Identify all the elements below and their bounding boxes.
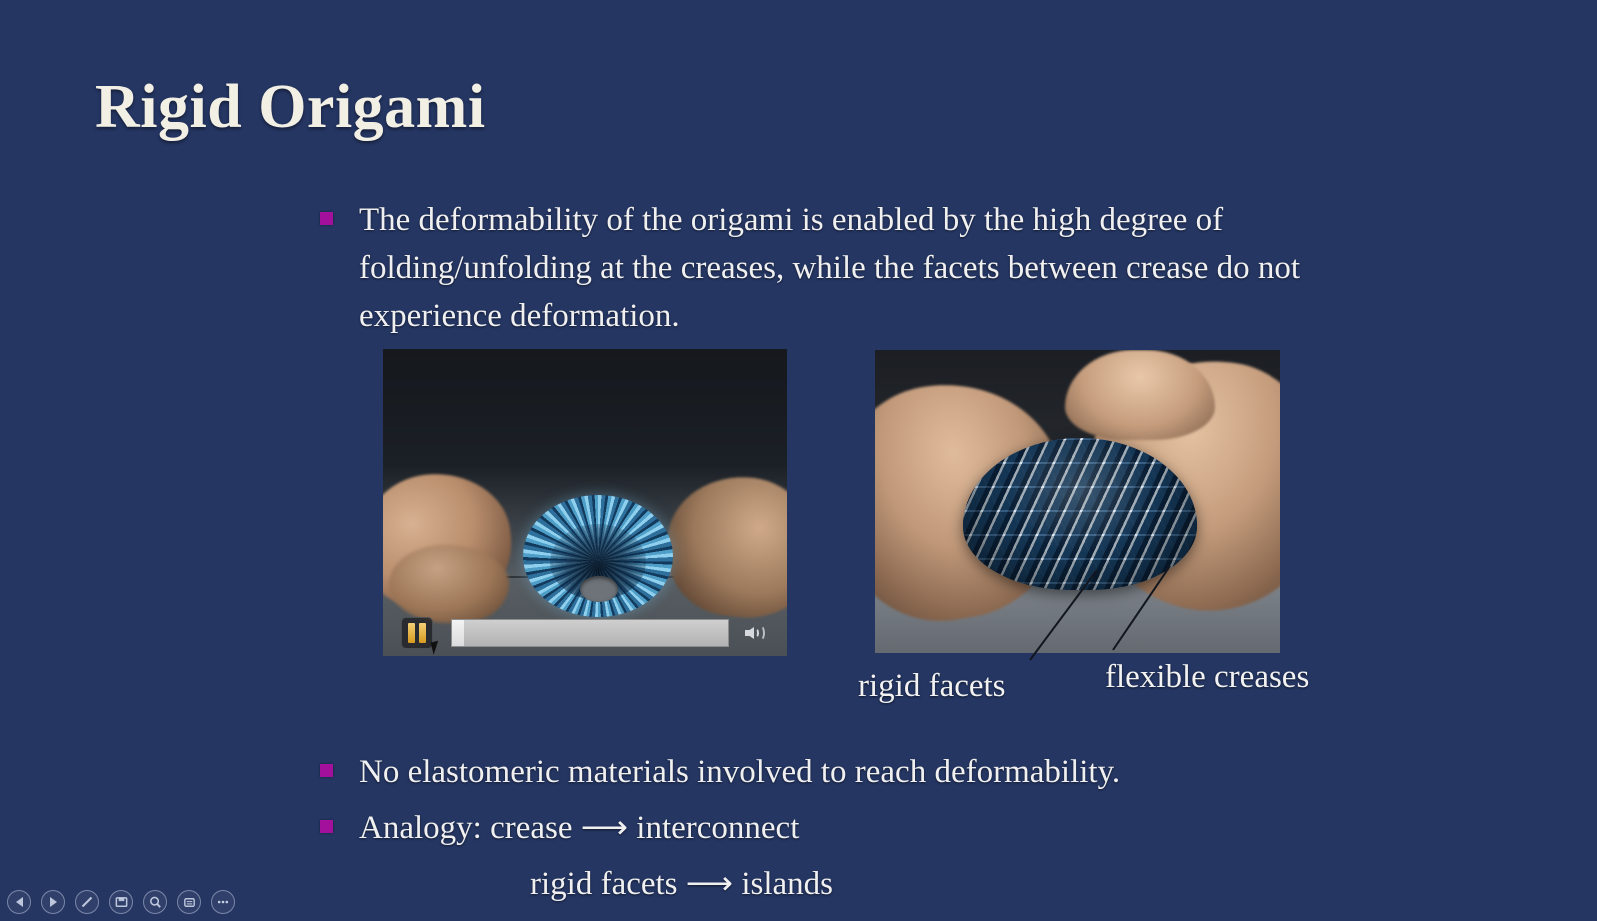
- origami-pod-photo: [875, 350, 1280, 653]
- presentation-slide: Rigid Origami The deformability of the o…: [0, 0, 1597, 921]
- bullet-item-2: No elastomeric materials involved to rea…: [320, 748, 1340, 796]
- video-progress-bar[interactable]: [451, 619, 729, 647]
- bullet-marker-icon: [320, 212, 333, 225]
- previous-arrow-glyph: [16, 897, 23, 907]
- annotation-rigid-facets: rigid facets: [858, 668, 1006, 705]
- origami-shading: [963, 438, 1197, 590]
- volume-icon[interactable]: [745, 622, 771, 644]
- bullet-marker-icon: [320, 764, 333, 777]
- pen-glyph: [79, 894, 95, 910]
- sound-wave-outer-icon: [756, 625, 765, 641]
- pen-icon[interactable]: [75, 890, 99, 914]
- more-options-glyph: [215, 894, 231, 910]
- pause-bar-left-icon: [408, 623, 415, 643]
- presentation-toolbar: [0, 883, 1597, 921]
- notes-icon[interactable]: [177, 890, 201, 914]
- bullet-item-3: Analogy: crease ⟶ interconnect: [320, 804, 1340, 852]
- next-arrow-glyph: [50, 897, 57, 907]
- bullet-text-3: Analogy: crease ⟶ interconnect: [359, 804, 799, 852]
- pause-button[interactable]: [401, 617, 433, 649]
- origami-torus-video[interactable]: [383, 349, 787, 656]
- video-controls-bar: [383, 610, 787, 656]
- magnifier-icon[interactable]: [143, 890, 167, 914]
- bullet-item-1: The deformability of the origami is enab…: [320, 196, 1330, 340]
- magnifier-glyph: [148, 895, 163, 910]
- page-title: Rigid Origami: [95, 72, 486, 143]
- next-arrow-icon[interactable]: [41, 890, 65, 914]
- origami-torus-object: [523, 495, 673, 617]
- pause-bar-right-icon: [419, 623, 426, 643]
- bullet-text-1: The deformability of the origami is enab…: [359, 196, 1330, 340]
- video-progress-fill: [452, 620, 464, 646]
- bullet-text-2: No elastomeric materials involved to rea…: [359, 748, 1120, 796]
- annotation-flexible-creases: flexible creases: [1105, 659, 1309, 696]
- more-options-icon[interactable]: [211, 890, 235, 914]
- previous-arrow-icon[interactable]: [7, 890, 31, 914]
- origami-center-hole: [580, 576, 618, 603]
- screen-icon[interactable]: [109, 890, 133, 914]
- origami-compressed-object: [963, 438, 1197, 590]
- screen-glyph: [114, 895, 129, 910]
- bullet-marker-icon: [320, 820, 333, 833]
- notes-glyph: [182, 895, 197, 910]
- mouse-cursor: [431, 640, 446, 656]
